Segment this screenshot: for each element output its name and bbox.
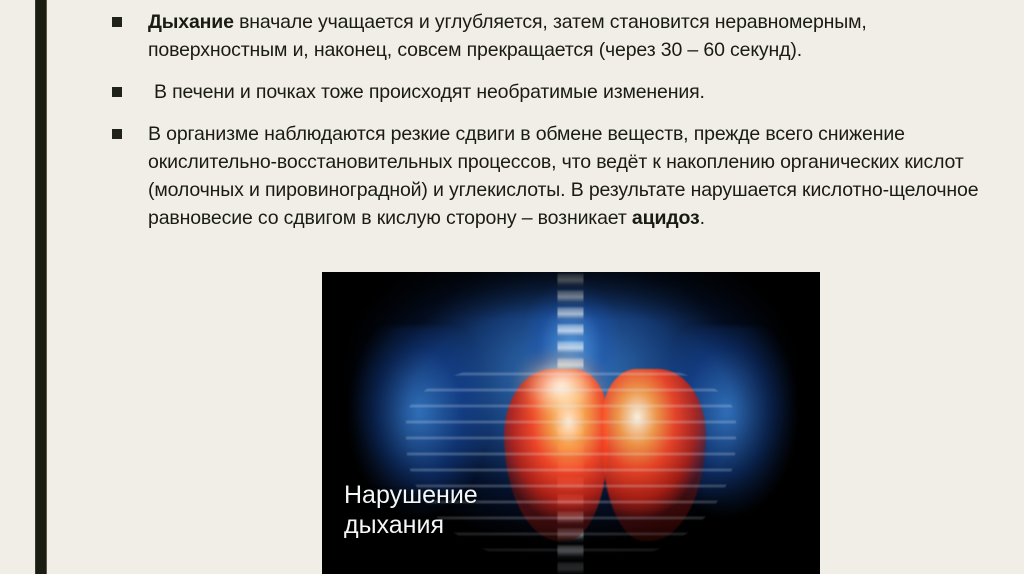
list-item: В печени и почках тоже происходят необра… [112, 78, 992, 106]
bullet-text-2: В печени и почках тоже происходят необра… [148, 78, 992, 106]
bullet-trail-bold-3: ацидоз [632, 207, 700, 229]
bullet-text-1: Дыхание вначале учащается и углубляется,… [148, 8, 992, 64]
square-bullet-icon [112, 87, 122, 97]
bullet-body-1: вначале учащается и углубляется, затем с… [148, 11, 867, 61]
list-item: В организме наблюдаются резкие сдвиги в … [112, 120, 992, 232]
bullet-list: Дыхание вначале учащается и углубляется,… [112, 8, 992, 244]
anatomy-figure: Нарушение дыхания [322, 272, 820, 574]
slide-canvas: Дыхание вначале учащается и углубляется,… [0, 0, 1024, 574]
bullet-lead-bold-1: Дыхание [148, 11, 234, 33]
left-accent-bar [35, 0, 47, 574]
figure-caption: Нарушение дыхания [344, 480, 478, 540]
bullet-body-2: В печени и почках тоже происходят необра… [154, 81, 705, 103]
square-bullet-icon [112, 17, 122, 27]
list-item: Дыхание вначале учащается и углубляется,… [112, 8, 992, 64]
bullet-text-3: В организме наблюдаются резкие сдвиги в … [148, 120, 992, 232]
accent-bar-highlight [35, 0, 36, 574]
bullet-trail-3: . [700, 207, 705, 229]
bullet-body-3: В организме наблюдаются резкие сдвиги в … [148, 123, 978, 229]
square-bullet-icon [112, 129, 122, 139]
